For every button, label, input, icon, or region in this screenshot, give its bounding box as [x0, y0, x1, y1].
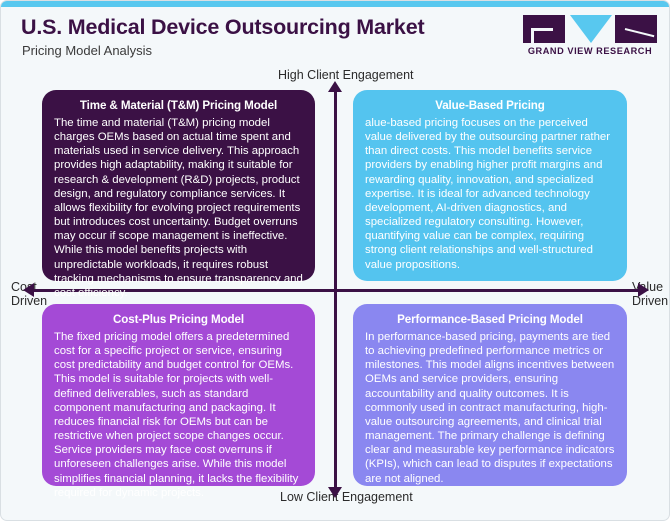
quadrant-body-cost-plus: The fixed pricing model offers a predete…: [54, 330, 303, 500]
axis-label-top: High Client Engagement: [278, 68, 414, 82]
logo-left-block-icon: [523, 15, 565, 43]
logo-left-notch-vertical: [531, 28, 534, 43]
arrow-right-icon: [638, 283, 649, 297]
quadrant-card-value-based: Value-Based Pricing alue-based pricing f…: [353, 90, 627, 281]
arrow-down-icon: [328, 487, 342, 498]
quadrant-card-time-and-material: Time & Material (T&M) Pricing Model The …: [42, 90, 315, 281]
infographic-page: U.S. Medical Device Outsourcing Market P…: [0, 0, 670, 521]
logo-mark-group: [523, 15, 657, 43]
quadrant-title-performance-based: Performance-Based Pricing Model: [365, 313, 615, 326]
quadrant-body-value-based: alue-based pricing focuses on the percei…: [365, 116, 615, 272]
page-subtitle: Pricing Model Analysis: [22, 43, 152, 58]
quadrant-title-time-and-material: Time & Material (T&M) Pricing Model: [54, 99, 303, 112]
page-title: U.S. Medical Device Outsourcing Market: [21, 15, 424, 40]
quadrant-title-cost-plus: Cost-Plus Pricing Model: [54, 313, 303, 326]
logo-wordmark: GRAND VIEW RESEARCH: [523, 46, 657, 56]
logo-triangle-icon: [570, 15, 612, 43]
grand-view-research-logo: GRAND VIEW RESEARCH: [523, 15, 657, 61]
quadrant-body-performance-based: In performance-based pricing, payments a…: [365, 330, 615, 486]
page-header: U.S. Medical Device Outsourcing Market P…: [1, 7, 670, 63]
arrow-left-icon: [23, 283, 34, 297]
logo-right-notch-diagonal: [625, 28, 655, 37]
quadrant-title-value-based: Value-Based Pricing: [365, 99, 615, 112]
quadrant-card-cost-plus: Cost-Plus Pricing Model The fixed pricin…: [42, 304, 315, 486]
logo-right-block-icon: [615, 15, 657, 43]
arrow-up-icon: [328, 81, 342, 92]
quadrant-card-performance-based: Performance-Based Pricing Model In perfo…: [353, 304, 627, 486]
logo-left-notch-horizontal: [531, 28, 553, 31]
quadrant-body-time-and-material: The time and material (T&M) pricing mode…: [54, 116, 303, 300]
